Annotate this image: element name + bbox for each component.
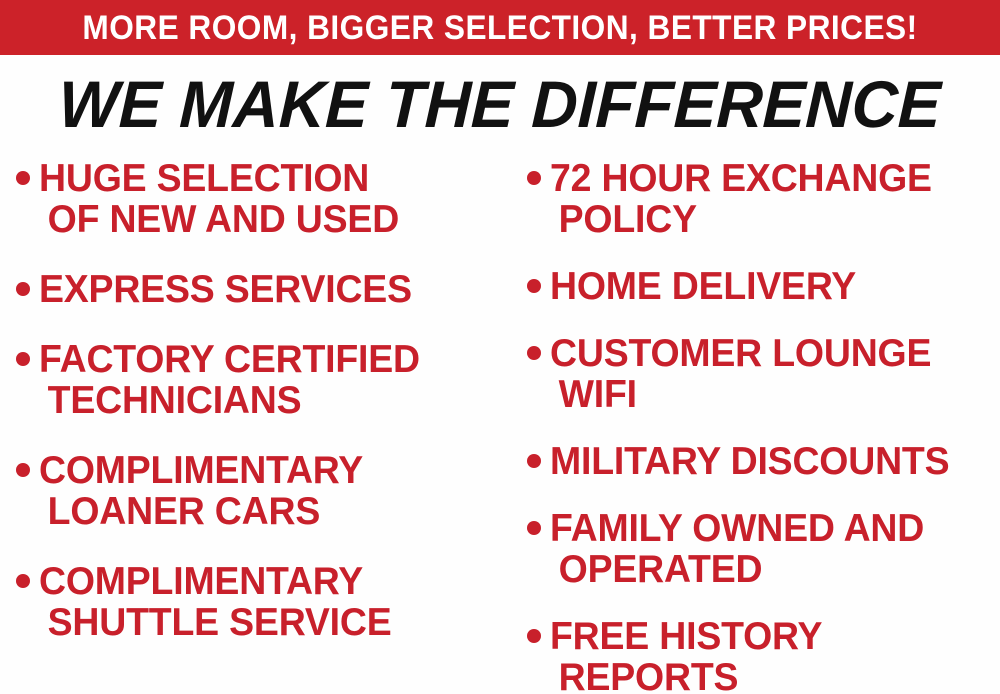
feature-item: 72 HOUR EXCHANGEPOLICY <box>527 158 1000 240</box>
feature-item: FAMILY OWNED ANDOPERATED <box>527 508 1000 590</box>
feature-text-line: EXPRESS SERVICES <box>39 269 486 310</box>
feature-text: FREE HISTORYREPORTS <box>550 616 1000 694</box>
feature-text-line: HUGE SELECTION <box>39 158 486 199</box>
feature-text-line: POLICY <box>550 199 982 240</box>
feature-item: EXPRESS SERVICES <box>16 269 505 310</box>
feature-text: FAMILY OWNED ANDOPERATED <box>550 508 1000 590</box>
features-right-column: 72 HOUR EXCHANGEPOLICYHOME DELIVERYCUSTO… <box>505 158 1000 694</box>
banner-headline-text: MORE ROOM, BIGGER SELECTION, BETTER PRIC… <box>82 11 917 45</box>
feature-text-line: FREE HISTORY <box>550 616 982 657</box>
feature-text-line: LOANER CARS <box>39 491 486 532</box>
feature-text: COMPLIMENTARYLOANER CARS <box>39 450 505 532</box>
feature-text: MILITARY DISCOUNTS <box>550 441 1000 482</box>
bullet-point-icon <box>527 629 541 643</box>
main-headline: WE MAKE THE DIFFERENCE <box>0 68 1000 140</box>
feature-text: FACTORY CERTIFIEDTECHNICIANS <box>39 339 505 421</box>
bullet-point-icon <box>16 463 30 477</box>
bullet-point-icon <box>527 346 541 360</box>
feature-item: HOME DELIVERY <box>527 266 1000 307</box>
feature-text-line: CUSTOMER LOUNGE <box>550 333 982 374</box>
features-columns: HUGE SELECTIONOF NEW AND USEDEXPRESS SER… <box>0 158 1000 694</box>
promotional-poster: MORE ROOM, BIGGER SELECTION, BETTER PRIC… <box>0 0 1000 694</box>
feature-item: COMPLIMENTARYLOANER CARS <box>16 450 505 532</box>
main-headline-text: WE MAKE THE DIFFERENCE <box>58 68 943 140</box>
feature-text: HOME DELIVERY <box>550 266 1000 307</box>
feature-text: EXPRESS SERVICES <box>39 269 505 310</box>
features-left-column: HUGE SELECTIONOF NEW AND USEDEXPRESS SER… <box>0 158 505 694</box>
bullet-point-icon <box>16 171 30 185</box>
feature-text-line: TECHNICIANS <box>39 380 486 421</box>
bullet-point-icon <box>527 454 541 468</box>
feature-text-line: COMPLIMENTARY <box>39 450 486 491</box>
feature-item: FREE HISTORYREPORTS <box>527 616 1000 694</box>
feature-text-line: SHUTTLE SERVICE <box>39 602 486 643</box>
feature-text: COMPLIMENTARYSHUTTLE SERVICE <box>39 561 505 643</box>
feature-text-line: HOME DELIVERY <box>550 266 982 307</box>
feature-text-line: OPERATED <box>550 549 982 590</box>
bullet-point-icon <box>527 279 541 293</box>
top-banner: MORE ROOM, BIGGER SELECTION, BETTER PRIC… <box>0 0 1000 55</box>
feature-text-line: WIFI <box>550 374 982 415</box>
feature-text-line: MILITARY DISCOUNTS <box>550 441 982 482</box>
feature-text: 72 HOUR EXCHANGEPOLICY <box>550 158 1000 240</box>
bullet-point-icon <box>16 574 30 588</box>
feature-text-line: FACTORY CERTIFIED <box>39 339 486 380</box>
feature-item: COMPLIMENTARYSHUTTLE SERVICE <box>16 561 505 643</box>
feature-text-line: 72 HOUR EXCHANGE <box>550 158 982 199</box>
feature-text-line: OF NEW AND USED <box>39 199 486 240</box>
feature-item: CUSTOMER LOUNGEWIFI <box>527 333 1000 415</box>
feature-text: HUGE SELECTIONOF NEW AND USED <box>39 158 505 240</box>
feature-item: HUGE SELECTIONOF NEW AND USED <box>16 158 505 240</box>
feature-text-line: REPORTS <box>550 657 982 694</box>
feature-item: MILITARY DISCOUNTS <box>527 441 1000 482</box>
feature-text: CUSTOMER LOUNGEWIFI <box>550 333 1000 415</box>
bullet-point-icon <box>16 352 30 366</box>
bullet-point-icon <box>527 521 541 535</box>
bullet-point-icon <box>16 282 30 296</box>
bullet-point-icon <box>527 171 541 185</box>
feature-text-line: COMPLIMENTARY <box>39 561 486 602</box>
feature-text-line: FAMILY OWNED AND <box>550 508 982 549</box>
feature-item: FACTORY CERTIFIEDTECHNICIANS <box>16 339 505 421</box>
